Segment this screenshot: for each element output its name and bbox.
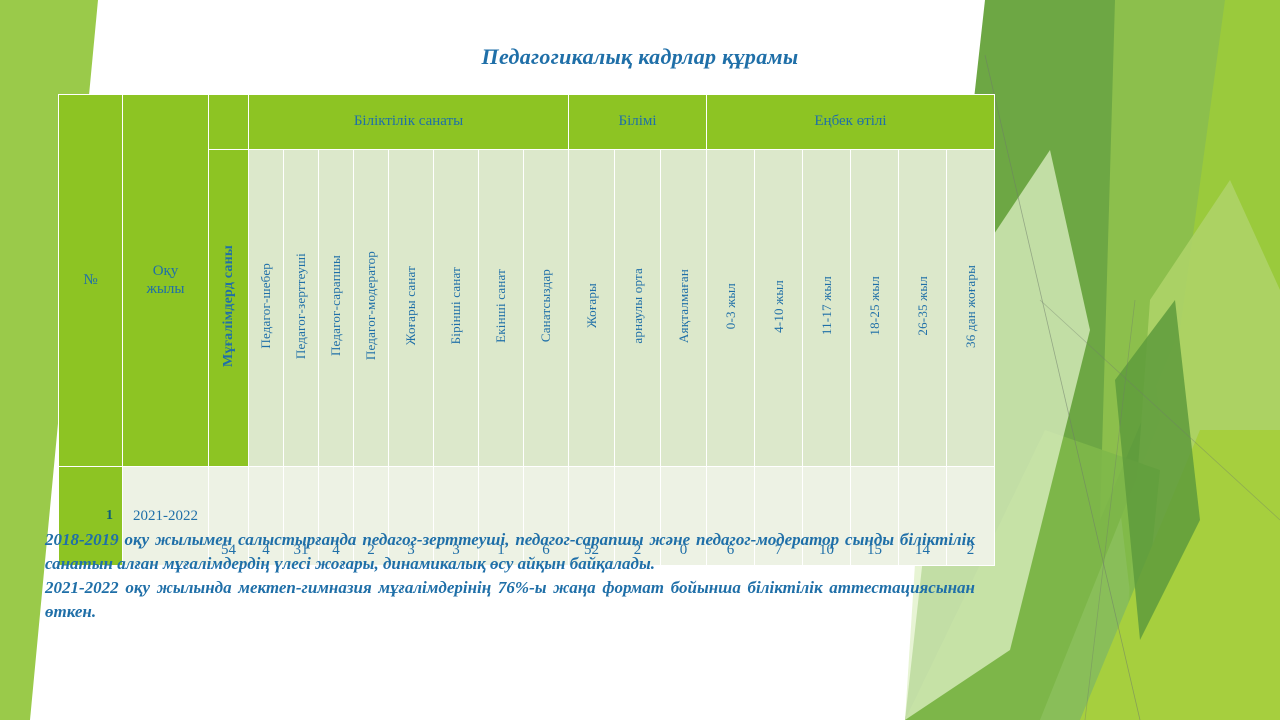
vheader-label: Педагог-модератор: [363, 251, 379, 360]
header-cell-no: №: [59, 95, 123, 467]
vheader-label: Аяқталмаған: [676, 269, 692, 343]
hairline-1: [985, 55, 1140, 720]
vheader-label: Жоғары: [584, 283, 600, 328]
vheader-zhogary: Жоғары: [569, 150, 615, 467]
bg-poly-lime-bottom: [1080, 430, 1280, 720]
vheader-label: 11-17 жыл: [819, 276, 835, 335]
table-group-header-row: № Оқу жылы Біліктілік санаты Білімі Еңбе…: [59, 95, 995, 150]
vheader-label: арнаулы орта: [630, 268, 646, 344]
note-paragraph-1: 2018-2019 оқу жылымен салыстырғанда педа…: [45, 528, 975, 576]
vheader-label: Бірінші санат: [448, 267, 464, 344]
slide-title: Педагогикалық кадрлар құрамы: [0, 44, 1280, 70]
vheader-label: Екінші санат: [493, 269, 509, 343]
vheader-ayaqtalmagan: Аяқталмаған: [661, 150, 707, 467]
header-cell-qualification: Біліктілік санаты: [249, 95, 569, 150]
vheader-label: Педагог-шебер: [258, 263, 274, 349]
vheader-label: Жоғары санат: [403, 266, 419, 345]
vheader-4-10-zhyl: 4-10 жыл: [755, 150, 803, 467]
header-study-year-line2: жылы: [146, 281, 184, 297]
slide-canvas: Педагогикалық кадрлар құрамы № Оқу жылы: [0, 0, 1280, 720]
vheader-label: 4-10 жыл: [771, 280, 787, 333]
vheader-label: 36 дан жоғары: [963, 265, 979, 348]
vheader-26-35-zhyl: 26-35 жыл: [899, 150, 947, 467]
header-cell-experience: Еңбек өтілі: [707, 95, 995, 150]
vheader-36-plus: 36 дан жоғары: [947, 150, 995, 467]
vheader-11-17-zhyl: 11-17 жыл: [803, 150, 851, 467]
vheader-birinshi-sanat: Бірінші санат: [434, 150, 479, 467]
vheader-label: 18-25 жыл: [867, 276, 883, 336]
header-cell-spacer-teachers: [209, 95, 249, 150]
vheader-pedagog-moderator: Педагог-модератор: [354, 150, 389, 467]
vheader-arnauly-orta: арнаулы орта: [615, 150, 661, 467]
vheader-label: Санатсыздар: [538, 269, 554, 342]
vheader-zhogary-sanat: Жоғары санат: [389, 150, 434, 467]
notes-block: 2018-2019 оқу жылымен салыстырғанда педа…: [45, 528, 975, 625]
vheader-pedagog-sheber: Педагог-шебер: [249, 150, 284, 467]
vheader-0-3-zhyl: 0-3 жыл: [707, 150, 755, 467]
vheader-teachers-count: Мұғалімдерд саны: [209, 150, 249, 467]
vheader-label: Педагог-зерттеуші: [293, 253, 309, 359]
vheader-pedagog-zerttushi: Педагог-зерттеуші: [284, 150, 319, 467]
vheader-label: Мұғалімдерд саны: [221, 245, 237, 367]
vheader-label: 26-35 жыл: [915, 276, 931, 336]
vheader-ekinshi-sanat: Екінші санат: [479, 150, 524, 467]
header-cell-education: Білімі: [569, 95, 707, 150]
vheader-label: Педагог-сарапшы: [328, 255, 344, 356]
hairline-3: [1085, 300, 1135, 720]
pedagogical-staff-table-wrapper: № Оқу жылы Біліктілік санаты Білімі Еңбе…: [58, 94, 995, 566]
vheader-sanatsyzdar: Санатсыздар: [524, 150, 569, 467]
header-study-year-line1: Оқу: [153, 263, 179, 279]
header-cell-study-year: Оқу жылы: [123, 95, 209, 467]
note-paragraph-2: 2021-2022 оқу жылында мектеп-гимназия мұ…: [45, 576, 975, 624]
pedagogical-staff-table: № Оқу жылы Біліктілік санаты Білімі Еңбе…: [58, 94, 995, 566]
bg-poly-lime-right: [1060, 0, 1280, 720]
bg-poly-deep-wedge: [1115, 300, 1200, 640]
hairline-2: [1040, 300, 1280, 520]
vheader-18-25-zhyl: 18-25 жыл: [851, 150, 899, 467]
vheader-pedagog-sarapshy: Педагог-сарапшы: [319, 150, 354, 467]
bg-poly-paleleaf: [1120, 180, 1280, 720]
vheader-label: 0-3 жыл: [723, 283, 739, 329]
bg-poly-midgreen: [1100, 0, 1225, 520]
